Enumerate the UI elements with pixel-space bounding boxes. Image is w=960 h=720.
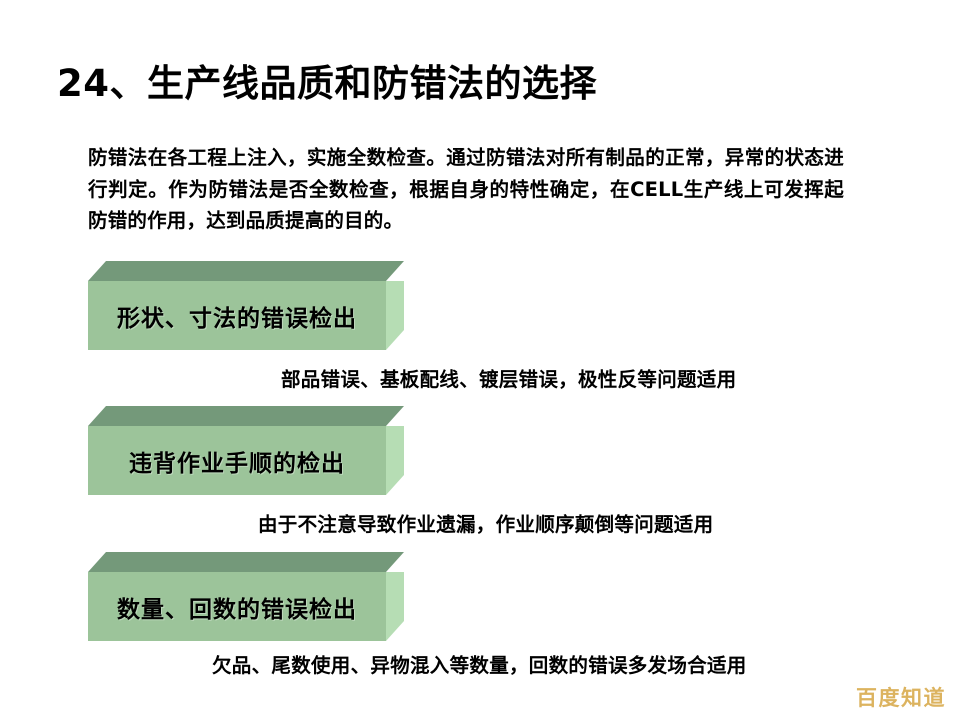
box-label: 违背作业手顺的检出 (88, 426, 386, 495)
process-box-shape: 数量、回数的错误检出 (88, 552, 404, 641)
slide-canvas: 24、生产线品质和防错法的选择 防错法在各工程上注入，实施全数检查。通过防错法对… (0, 0, 960, 720)
box-caption: 欠品、尾数使用、异物混入等数量，回数的错误多发场合适用 (212, 649, 747, 678)
box-side-face-icon (386, 281, 404, 350)
box-top-face-icon (88, 261, 404, 281)
box-side-face-icon (386, 426, 404, 495)
box-top-face-icon (88, 406, 404, 426)
watermark: 百度知道 (856, 682, 946, 712)
process-box-shape: 形状、寸法的错误检出 (88, 261, 404, 350)
box-side-face-icon (386, 572, 404, 641)
box-label: 数量、回数的错误检出 (88, 572, 386, 641)
box-caption: 由于不注意导致作业遗漏，作业顺序颠倒等问题适用 (258, 508, 713, 537)
page-title: 24、生产线品质和防错法的选择 (57, 62, 917, 106)
box-caption: 部品错误、基板配线、镀层错误，极性反等问题适用 (281, 363, 736, 392)
process-box-shape: 违背作业手顺的检出 (88, 406, 404, 495)
box-label: 形状、寸法的错误检出 (88, 281, 386, 350)
box-top-face-icon (88, 552, 404, 572)
intro-paragraph: 防错法在各工程上注入，实施全数检查。通过防错法对所有制品的正常，异常的状态进行判… (88, 142, 844, 237)
